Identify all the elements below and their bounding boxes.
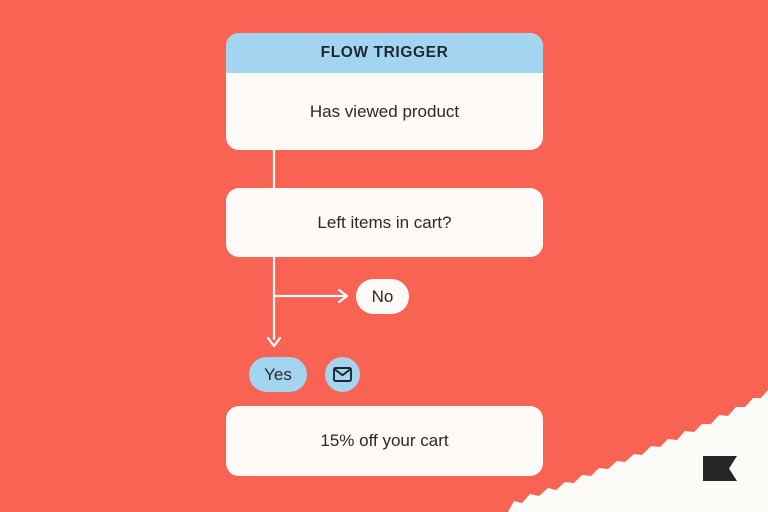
flow-trigger-card[interactable]: FLOW TRIGGER Has viewed product — [226, 33, 543, 150]
torn-paper-shape — [508, 362, 768, 512]
branch-pill-no[interactable]: No — [356, 279, 409, 314]
offer-card-label: 15% off your cart — [226, 406, 543, 476]
flow-canvas: FLOW TRIGGER Has viewed product Left ite… — [0, 0, 768, 512]
arrowhead-no — [339, 290, 347, 302]
flow-trigger-header: FLOW TRIGGER — [226, 33, 543, 73]
arrowhead-yes — [268, 338, 280, 346]
flag-logo-icon — [703, 456, 737, 481]
envelope-icon — [333, 367, 352, 382]
flow-trigger-body: Has viewed product — [226, 73, 543, 150]
flag-logo-shape — [703, 456, 737, 481]
condition-card[interactable]: Left items in cart? — [226, 188, 543, 257]
condition-card-label: Left items in cart? — [226, 188, 543, 257]
torn-paper-corner — [508, 362, 768, 512]
email-action-badge[interactable] — [325, 357, 360, 392]
offer-card[interactable]: 15% off your cart — [226, 406, 543, 476]
branch-pill-yes[interactable]: Yes — [249, 357, 307, 392]
